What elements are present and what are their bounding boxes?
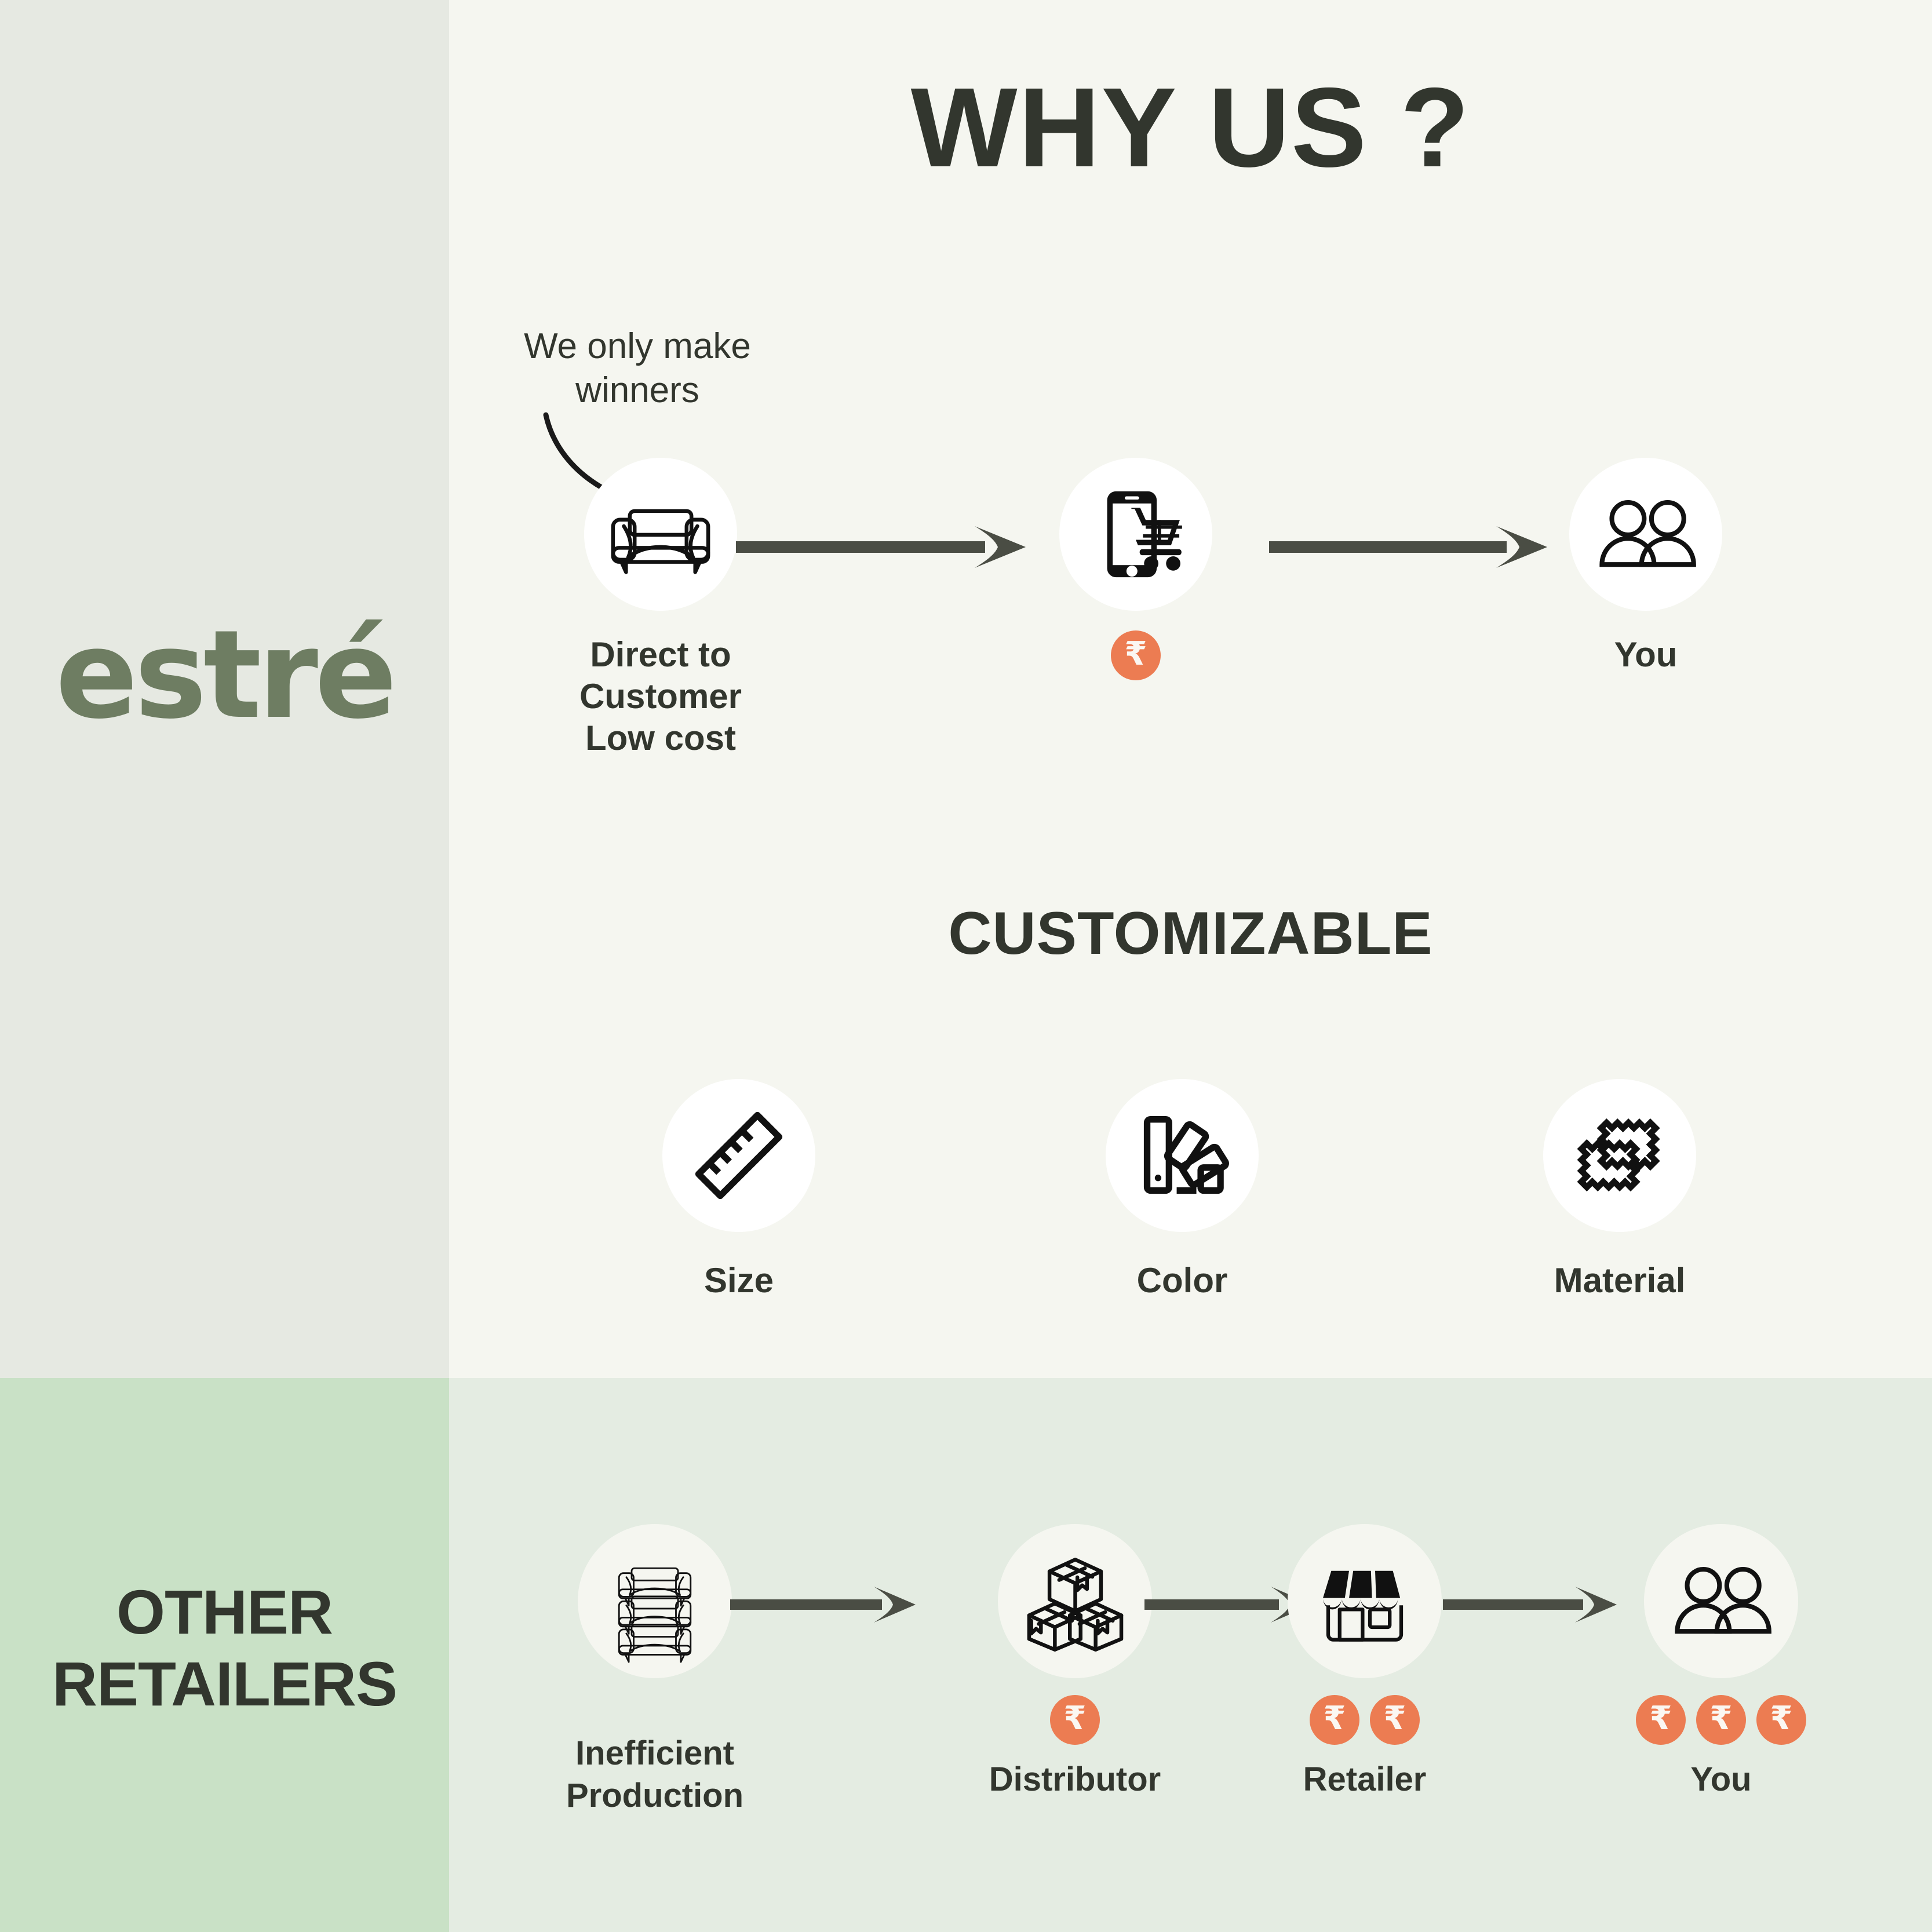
brand-logo: estré — [0, 614, 449, 736]
infographic-canvas: estré OTHER RETAILERS WHY US ? We only m… — [0, 0, 1932, 1932]
page-title: WHY US ? — [449, 63, 1932, 192]
retailer-flow-label-production: Inefficient Production — [516, 1733, 794, 1817]
flow-node-label: You — [1495, 634, 1796, 676]
people-icon — [1669, 1563, 1773, 1639]
rupee-badge: ₹ — [1050, 1695, 1100, 1745]
retailer-label-line1: You — [1582, 1759, 1860, 1801]
rupee-badge-group: ₹ ₹ — [1226, 1695, 1504, 1745]
sofa-icon — [606, 494, 716, 575]
customizable-item-label: Color — [1037, 1260, 1327, 1302]
annotation-line2: winners — [469, 369, 805, 413]
color-swatch-icon-circle — [1106, 1079, 1259, 1232]
mobile-cart-icon-circle — [1059, 458, 1212, 611]
flow-label-line2: Low cost — [510, 717, 811, 759]
retailer-flow-label-retailer: Retailer — [1226, 1759, 1504, 1801]
retailer-label-line1: Inefficient — [516, 1733, 794, 1775]
retailer-label-line1: Distributor — [936, 1759, 1214, 1801]
color-swatch-icon — [1133, 1106, 1231, 1205]
other-retailers-line2: RETAILERS — [0, 1648, 449, 1720]
rupee-badge-group: ₹ ₹ ₹ — [1582, 1695, 1860, 1745]
customizable-item-material[interactable]: Material — [1475, 1079, 1765, 1302]
customizable-item-label: Size — [594, 1260, 884, 1302]
boxes-icon — [1022, 1548, 1129, 1655]
flow-arrow-icon — [736, 522, 1026, 574]
rupee-badge: ₹ — [1756, 1695, 1806, 1745]
rupee-badge-group: ₹ — [936, 1695, 1214, 1745]
flow-node-online-purchase[interactable] — [985, 458, 1286, 611]
mobile-cart-icon — [1081, 479, 1191, 589]
sofa-stack-icon-circle — [578, 1524, 732, 1678]
people-icon-circle — [1644, 1524, 1798, 1678]
fabric-swatch-icon-circle — [1543, 1079, 1696, 1232]
boxes-icon-circle — [998, 1524, 1152, 1678]
rupee-badge: ₹ — [1696, 1695, 1746, 1745]
storefront-icon-circle — [1288, 1524, 1442, 1678]
retailer-flow-node-you[interactable] — [1582, 1524, 1860, 1678]
customizable-item-color[interactable]: Color — [1037, 1079, 1327, 1302]
customizable-item-label: Material — [1475, 1260, 1765, 1302]
sofa-stack-icon — [603, 1549, 707, 1653]
sofa-icon-circle — [584, 458, 737, 611]
people-icon-circle — [1569, 458, 1722, 611]
ruler-icon — [690, 1106, 788, 1205]
flow-label-line1: Direct to Customer — [510, 634, 811, 717]
other-retailers-label: OTHER RETAILERS — [0, 1576, 449, 1720]
ruler-icon-circle — [662, 1079, 815, 1232]
rupee-badge: ₹ — [1636, 1695, 1686, 1745]
annotation-text: We only make winners — [469, 325, 805, 412]
retailer-label-line2: Production — [516, 1775, 794, 1817]
retailer-flow-label-distributor: Distributor — [936, 1759, 1214, 1801]
rupee-badge-group: ₹ — [985, 630, 1286, 680]
other-retailers-line1: OTHER — [0, 1576, 449, 1648]
flow-node-you[interactable]: You — [1495, 458, 1796, 676]
rupee-badge: ₹ — [1370, 1695, 1420, 1745]
flow-node-label: Direct to Customer Low cost — [510, 634, 811, 759]
annotation-line1: We only make — [469, 325, 805, 369]
fabric-swatch-icon — [1570, 1106, 1669, 1205]
rupee-badge: ₹ — [1111, 630, 1161, 680]
section-heading-customizable: CUSTOMIZABLE — [449, 899, 1932, 968]
customizable-item-size[interactable]: Size — [594, 1079, 884, 1302]
retailer-flow-label-you: You — [1582, 1759, 1860, 1801]
flow-arrow-icon — [730, 1582, 916, 1628]
flow-node-direct-to-customer[interactable]: Direct to Customer Low cost — [510, 458, 811, 759]
retailer-label-line1: Retailer — [1226, 1759, 1504, 1801]
people-icon — [1594, 497, 1698, 572]
rupee-badge: ₹ — [1310, 1695, 1359, 1745]
storefront-icon — [1313, 1549, 1417, 1653]
